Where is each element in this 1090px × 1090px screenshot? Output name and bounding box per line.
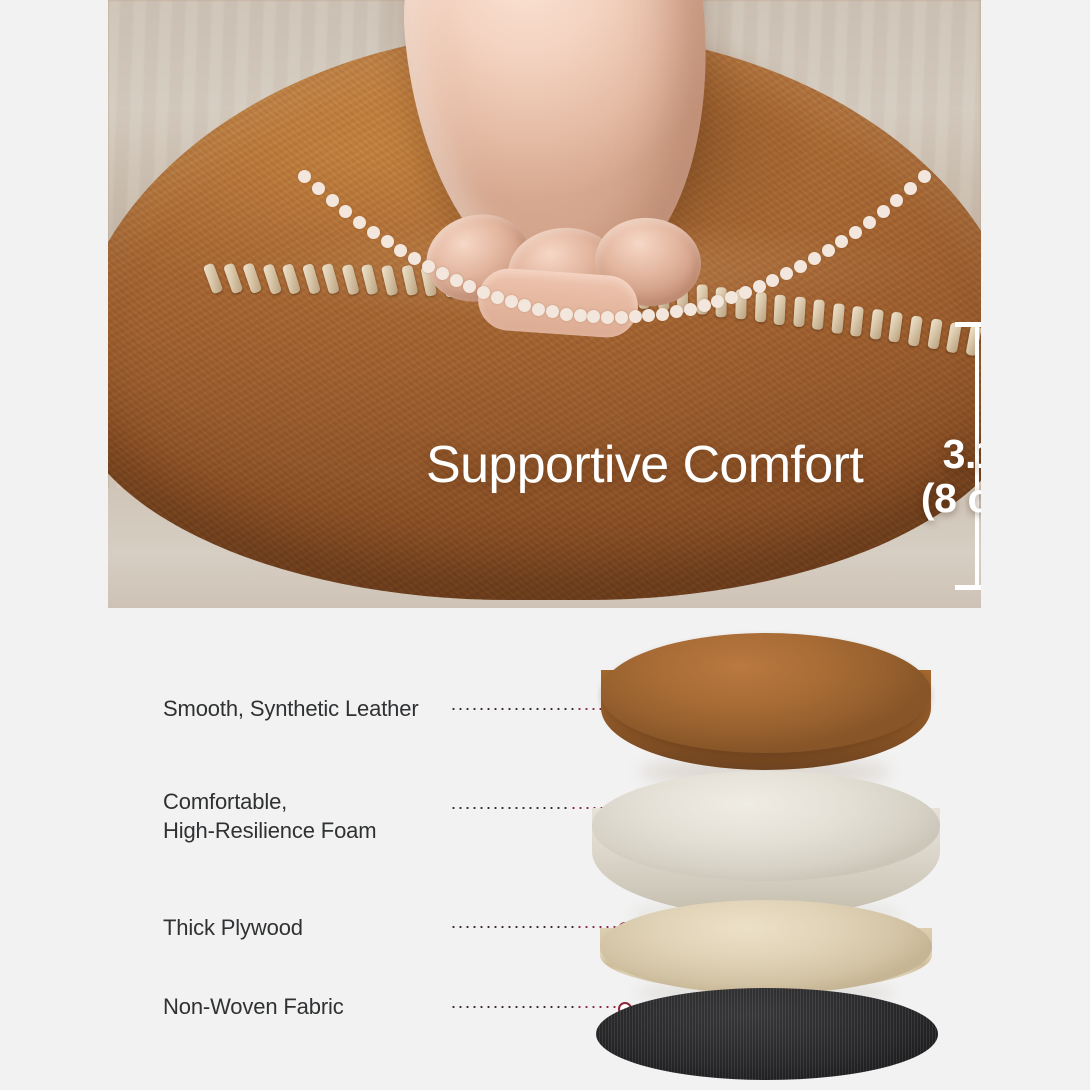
curve-dot [656,308,669,321]
curve-dot [698,299,711,312]
callout-label-foam-line2: High-Resilience Foam [163,816,376,845]
curve-dot [312,182,325,195]
curve-dot [298,170,311,183]
curve-dot [615,311,628,324]
curve-dot [381,235,394,248]
curve-dot [849,226,862,239]
curve-dot [684,303,697,316]
dimension-inches: 3.1" [896,432,981,476]
curve-dot [877,205,890,218]
curve-dot [725,291,738,304]
stitch-mark [869,309,883,340]
callout-label-leather: Smooth, Synthetic Leather [163,694,419,723]
foam-layer [592,771,940,881]
curve-dot [629,310,642,323]
stitch-mark [754,292,766,322]
stitch-mark [302,263,321,295]
hero-photo-panel: 3.1" (8 cm) Supportive Comfort [108,0,981,608]
leader-line-fabric [450,1006,576,1008]
stitch-mark [262,263,282,295]
curve-dot [477,286,490,299]
plywood-layer [600,900,932,994]
stitch-mark [812,300,825,331]
dimension-centimeters: (8 cm) [896,476,981,520]
stitch-mark [908,315,923,346]
callout-label-plywood: Thick Plywood [163,913,303,942]
stitch-mark [831,303,845,334]
curve-dot [326,194,339,207]
stitch-mark [341,264,359,296]
stitch-mark [361,264,379,296]
stitch-mark [793,297,806,328]
leader-line-fabric-warm [576,1006,622,1008]
stitch-mark [774,294,786,324]
stitch-mark [381,264,399,296]
dimension-cap-bottom [955,585,981,590]
stitch-mark [850,306,864,337]
stitch-mark [401,265,418,297]
fabric-layer [596,988,938,1080]
curve-dot [822,244,835,257]
callout-label-fabric: Non-Woven Fabric [163,992,344,1021]
dimension-label: 3.1" (8 cm) [896,432,981,520]
stitch-mark [889,312,904,343]
curve-dot [574,309,587,322]
curve-dot [450,274,463,287]
curve-dot [601,311,614,324]
curve-dot [863,216,876,229]
curve-dot [505,295,518,308]
leather-layer [601,633,931,753]
hero-headline: Supportive Comfort [426,436,863,494]
leader-line-plywood [450,926,576,928]
exploded-layer-diagram: Smooth, Synthetic Leather Comfortable, H… [0,608,1090,1090]
curve-dot [367,226,380,239]
stitch-mark [222,263,242,295]
curve-dot [739,286,752,299]
curve-dot [918,170,931,183]
curve-dot [491,291,504,304]
stitch-mark [282,263,301,295]
callout-label-foam-line1: Comfortable, [163,787,287,816]
curve-dot [560,308,573,321]
stitch-mark [242,263,262,295]
curve-dot [532,303,545,316]
stitch-mark [927,318,943,349]
leader-line-leather [450,708,576,710]
leader-line-foam [450,807,570,809]
curve-dot [753,280,766,293]
stitch-mark [322,263,341,295]
curve-dot [353,216,366,229]
